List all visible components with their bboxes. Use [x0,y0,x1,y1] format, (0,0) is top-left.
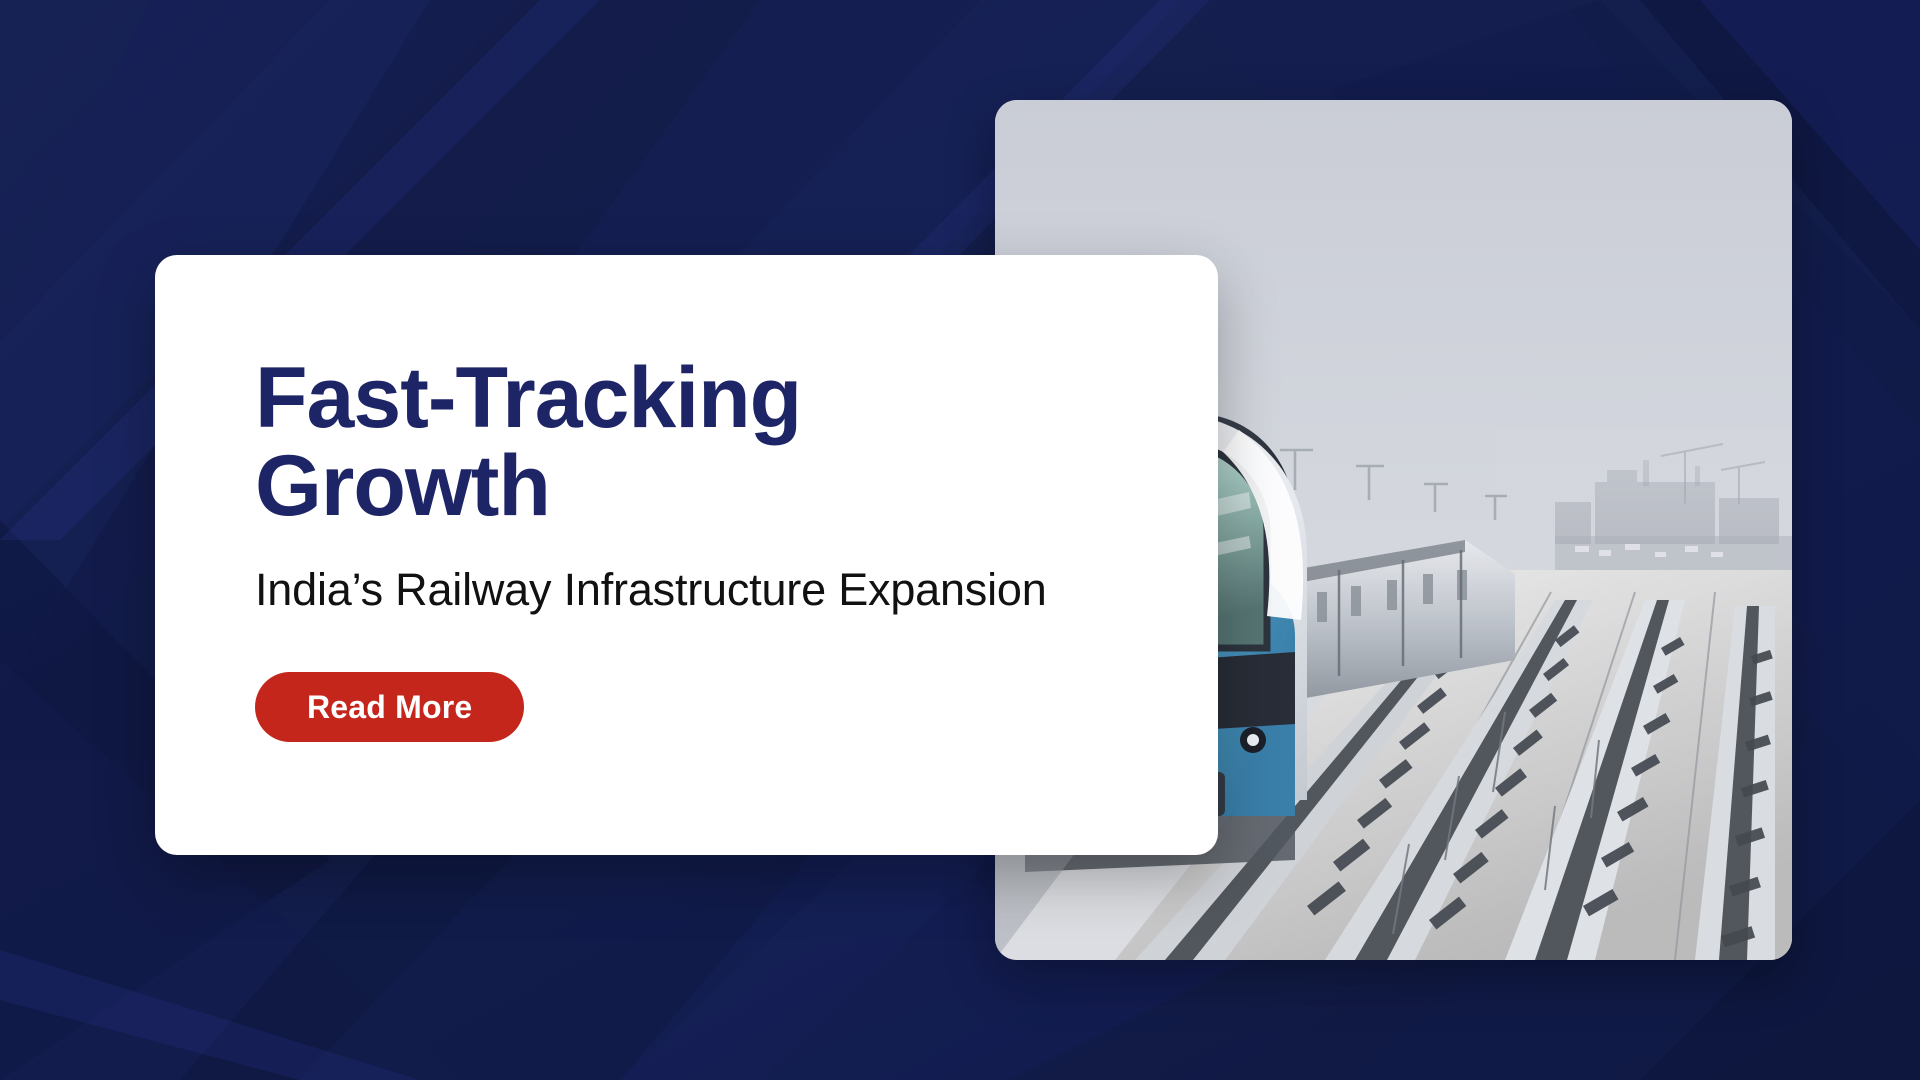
page-subtitle: India’s Railway Infrastructure Expansion [255,564,1218,616]
slide-stage: 5018 Fast-Tracking Growth India’s Railwa… [0,0,1920,1080]
page-title: Fast-Tracking Growth [255,355,1218,530]
read-more-button[interactable]: Read More [255,672,524,742]
content-card: Fast-Tracking Growth India’s Railway Inf… [155,255,1218,855]
